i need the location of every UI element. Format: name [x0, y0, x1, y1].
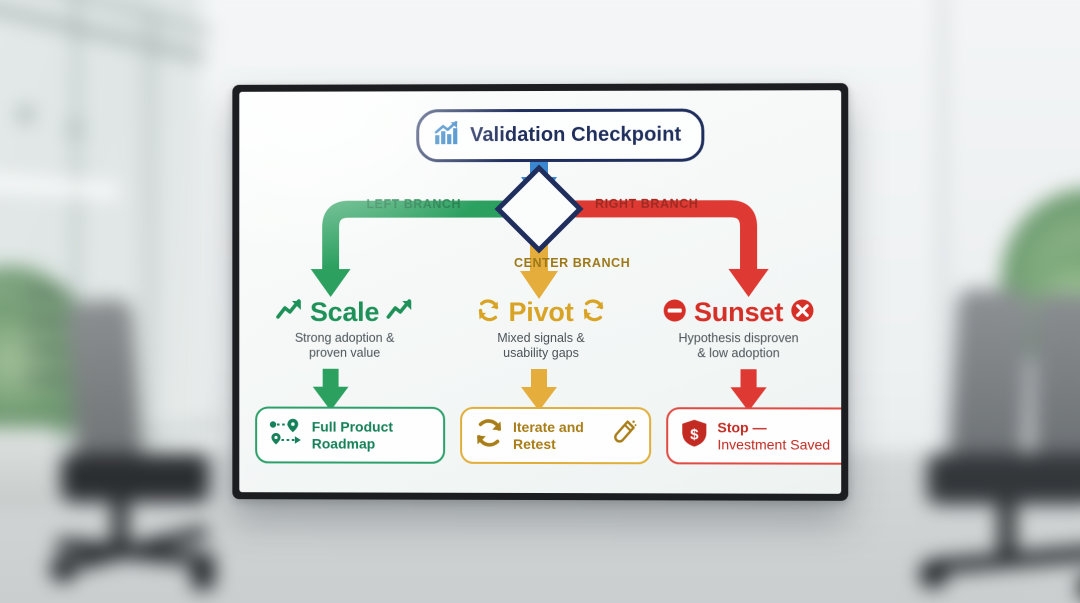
- outcome-pivot-subtitle-line2: usability gaps: [503, 346, 579, 360]
- wall-mounted-monitor: Validation Checkpoint LEFT BRANCH RIGHT …: [232, 83, 848, 501]
- card-stop-line2: Investment Saved: [717, 436, 830, 453]
- svg-text:$: $: [690, 426, 699, 443]
- card-roadmap-line2: Roadmap: [312, 435, 393, 452]
- outcome-scale-subtitle-line2: proven value: [309, 346, 380, 360]
- trend-up-arrow-icon: [276, 298, 303, 327]
- outcome-pivot-title: Pivot: [509, 297, 574, 328]
- monitor-screen: Validation Checkpoint LEFT BRANCH RIGHT …: [239, 90, 841, 494]
- outcome-scale-subtitle-line1: Strong adoption &: [295, 331, 395, 345]
- branch-label-center: CENTER BRANCH: [514, 256, 630, 270]
- outcome-scale-title: Scale: [310, 297, 379, 328]
- shield-dollar-icon: $: [680, 418, 708, 453]
- branch-label-right: RIGHT BRANCH: [595, 197, 698, 211]
- arrow-scale-to-card: [313, 369, 349, 411]
- refresh-cycle-icon: [474, 418, 504, 453]
- arrow-right-branch-red: [557, 209, 769, 297]
- diamond-decision-node: [498, 168, 580, 250]
- card-full-product-roadmap[interactable]: Full Product Roadmap: [255, 407, 445, 464]
- card-iterate-line2: Retest: [513, 435, 584, 452]
- card-roadmap-line1: Full Product: [312, 419, 393, 435]
- bar-chart-growth-icon: [434, 121, 460, 150]
- route-map-pins-icon: [269, 418, 303, 453]
- circle-x-icon: [790, 298, 815, 328]
- outcome-sunset-title: Sunset: [694, 297, 783, 328]
- outcome-sunset-subtitle-line2: & low adoption: [697, 346, 779, 360]
- outcome-pivot: Pivot Mixed signals & usability gaps: [443, 297, 639, 361]
- card-stop-investment-saved[interactable]: $ Stop — Investment Saved: [666, 407, 841, 465]
- validation-checkpoint-node[interactable]: Validation Checkpoint: [416, 109, 704, 163]
- outcome-sunset-subtitle-line1: Hypothesis disproven: [678, 331, 798, 345]
- refresh-cycle-icon: [581, 298, 606, 328]
- validation-checkpoint-label: Validation Checkpoint: [470, 124, 681, 147]
- branch-label-left: LEFT BRANCH: [366, 197, 461, 211]
- trend-up-arrow-icon: [386, 298, 413, 327]
- card-iterate-and-retest[interactable]: Iterate and Retest: [460, 407, 651, 464]
- arrow-left-branch-green: [311, 209, 521, 297]
- card-stop-line1: Stop —: [717, 419, 766, 435]
- arrow-pivot-to-card: [521, 369, 557, 411]
- outcome-sunset: Sunset Hypothesis disproven & low adopti…: [640, 297, 837, 361]
- refresh-cycle-icon: [477, 297, 502, 327]
- office-chair-right: [922, 289, 1080, 596]
- outcome-scale: Scale Strong adoption & proven value: [247, 297, 442, 361]
- office-scene: Validation Checkpoint LEFT BRANCH RIGHT …: [0, 0, 1080, 603]
- outcome-pivot-subtitle-line1: Mixed signals &: [497, 331, 585, 345]
- no-entry-icon: [662, 298, 687, 328]
- arrow-sunset-to-card: [730, 369, 766, 411]
- test-tube-icon: [613, 419, 637, 452]
- office-chair-left: [61, 300, 252, 586]
- card-iterate-line1: Iterate and: [513, 419, 584, 435]
